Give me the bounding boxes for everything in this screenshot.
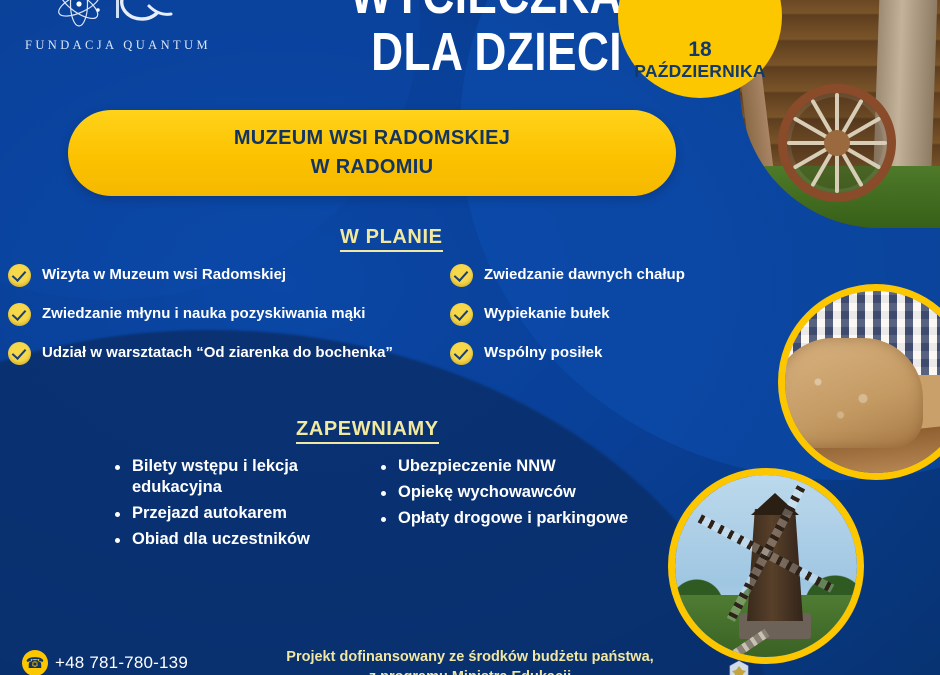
list-item: Ubezpieczenie NNW <box>378 456 648 477</box>
plan-item-label: Zwiedzanie młynu i nauka pozyskiwania mą… <box>42 303 365 324</box>
list-item: Wspólny posiłek <box>450 342 750 365</box>
provided-list-left: Bilety wstępu i lekcja edukacyjna Przeja… <box>112 456 362 555</box>
list-item: Obiad dla uczestników <box>112 529 362 550</box>
list-item: Bilety wstępu i lekcja edukacyjna <box>112 456 362 498</box>
headline-line1: WYCIECZKA <box>112 0 622 21</box>
headline-line2: DLA DZIECI <box>112 27 622 78</box>
date-day: 18 <box>688 39 711 61</box>
plan-item-label: Wypiekanie bułek <box>484 303 610 324</box>
list-item: Opłaty drogowe i parkingowe <box>378 508 648 529</box>
funding-line1: Projekt dofinansowany ze środków budżetu… <box>210 648 730 668</box>
check-circle-icon <box>8 342 31 365</box>
list-item: Przejazd autokarem <box>112 503 362 524</box>
check-circle-icon <box>450 264 473 287</box>
plan-list-right: Zwiedzanie dawnych chałup Wypiekanie buł… <box>450 264 750 381</box>
government-emblem <box>728 660 756 675</box>
phone-icon: ☎ <box>22 650 48 675</box>
list-item: Udział w warsztatach “Od ziarenka do boc… <box>8 342 448 365</box>
page-title: WYCIECZKA DLA DZIECI <box>0 0 640 78</box>
list-item: Opiekę wychowawców <box>378 482 648 503</box>
venue-line2: W RADOMIU <box>311 153 434 182</box>
wooden-windmill-photo <box>668 468 864 664</box>
list-item: Wypiekanie bułek <box>450 303 750 326</box>
list-item: Wizyta w Muzeum wsi Radomskiej <box>8 264 448 287</box>
provided-section-header: ZAPEWNIAMY <box>296 418 439 444</box>
plan-item-label: Udział w warsztatach “Od ziarenka do boc… <box>42 342 393 363</box>
phone-number: +48 781-780-139 <box>55 653 188 673</box>
plan-section-header: W PLANIE <box>340 226 443 252</box>
plan-item-label: Wizyta w Muzeum wsi Radomskiej <box>42 264 286 285</box>
check-circle-icon <box>450 303 473 326</box>
rustic-bread-photo <box>778 284 940 480</box>
poster-root: FUNDACJA QUANTUM WYCIECZKA DLA DZIECI 18… <box>0 0 940 675</box>
check-circle-icon <box>8 264 31 287</box>
funding-line2: z programu Ministra Edukacji <box>210 668 730 675</box>
contact-phone[interactable]: ☎ +48 781-780-139 <box>22 650 188 675</box>
plan-item-label: Wspólny posiłek <box>484 342 602 363</box>
provided-list-right: Ubezpieczenie NNW Opiekę wychowawców Opł… <box>378 456 648 534</box>
plan-list-left: Wizyta w Muzeum wsi Radomskiej Zwiedzani… <box>8 264 448 381</box>
venue-line1: MUZEUM WSI RADOMSKIEJ <box>234 124 510 153</box>
check-circle-icon <box>450 342 473 365</box>
eagle-emblem-icon <box>728 660 750 675</box>
check-circle-icon <box>8 303 31 326</box>
funding-note: Projekt dofinansowany ze środków budżetu… <box>210 648 730 675</box>
date-month: PAŹDZIERNIKA <box>634 61 765 82</box>
cartwheel-icon <box>778 84 896 202</box>
plan-item-label: Zwiedzanie dawnych chałup <box>484 264 685 285</box>
venue-banner: MUZEUM WSI RADOMSKIEJ W RADOMIU <box>68 110 676 196</box>
list-item: Zwiedzanie młynu i nauka pozyskiwania mą… <box>8 303 448 326</box>
list-item: Zwiedzanie dawnych chałup <box>450 264 750 287</box>
